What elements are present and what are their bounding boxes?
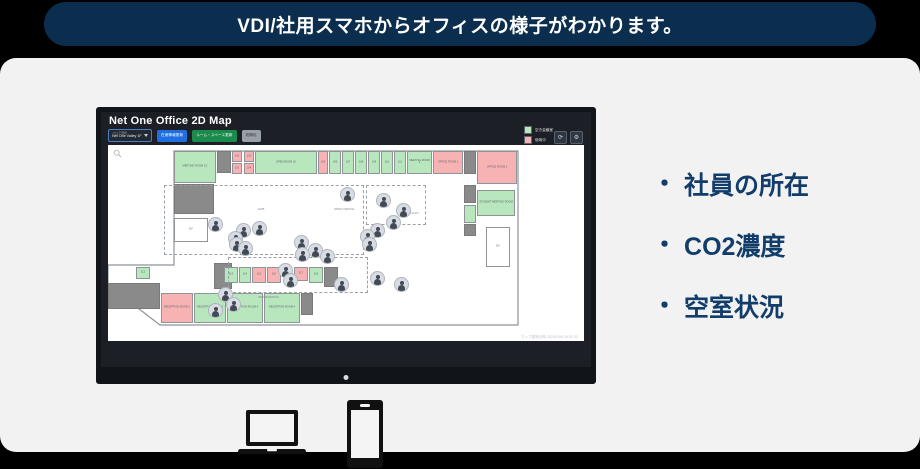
refresh-icon[interactable]: ⟳ <box>554 131 567 144</box>
zone-boundary <box>164 185 364 255</box>
person-marker-icon[interactable] <box>386 215 401 230</box>
room-cell[interactable] <box>464 151 476 174</box>
room-label: EV <box>487 246 509 249</box>
room-cell[interactable]: 109 <box>368 151 380 174</box>
map-timestamp: マップ更新日時 2024/10/9 15:52:32 <box>521 335 578 340</box>
room-label: 101 <box>233 155 241 158</box>
room-cell[interactable]: 108 <box>355 151 367 174</box>
person-marker-icon[interactable] <box>283 273 298 288</box>
banner-title: VDI/社用スマホからオフィスの様子がわかります。 <box>237 11 683 38</box>
room-label: RECEPTION ROOM 4 <box>265 307 299 310</box>
room-label: 104 <box>245 167 253 170</box>
bullet-marker-icon: ・ <box>652 294 677 319</box>
room-cell[interactable]: MEETING ROOM 1/2 <box>174 151 216 183</box>
room-cell[interactable]: EV <box>486 227 510 267</box>
person-marker-icon[interactable] <box>362 237 377 252</box>
room-label: RECEPTION ROOM 1 <box>162 307 192 310</box>
legend-item-busy: 使用中 <box>524 136 553 144</box>
room-cell[interactable]: 101 <box>232 151 242 162</box>
title-banner: VDI/社用スマホからオフィスの様子がわかります。 <box>44 2 876 46</box>
room-label: 107 <box>343 161 353 164</box>
smartphone-icon <box>346 399 384 469</box>
room-label: MEETING ROOM 1/2 <box>175 166 215 169</box>
person-marker-icon[interactable] <box>376 193 391 208</box>
monitor-screen: Net One Office 2D Map フロア選択 Net One Vall… <box>101 112 591 367</box>
map-tool-buttons: ⟳ ⚙ <box>554 131 583 144</box>
reset-button[interactable]: 初期化 <box>242 130 261 142</box>
room-cell[interactable]: RECEPTION ROOM 1 <box>161 293 193 323</box>
person-marker-icon[interactable] <box>370 271 385 286</box>
map-legend: 空き会議室 使用中 <box>524 126 553 144</box>
room-cell[interactable]: 112 <box>136 267 150 279</box>
feature-list: ・ 社員の所在 ・ CO2濃度 ・ 空室状況 <box>652 166 809 324</box>
zone-label: OPEN OFFICE <box>334 207 354 211</box>
monitor-frame: Net One Office 2D Map フロア選択 Net One Vall… <box>96 107 596 384</box>
room-cell[interactable] <box>217 151 231 173</box>
zone-label: HUB <box>258 207 264 211</box>
person-marker-icon[interactable] <box>208 217 223 232</box>
refresh-presence-button[interactable]: 在席情報更新 <box>157 130 187 142</box>
room-label: 110 <box>382 161 392 164</box>
room-label: 112 <box>137 272 149 275</box>
list-item: ・ 空室状況 <box>652 288 809 324</box>
room-cell[interactable]: 111 <box>394 151 406 174</box>
content-panel: Net One Office 2D Map フロア選択 Net One Vall… <box>0 58 920 452</box>
person-marker-icon[interactable] <box>394 277 409 292</box>
room-label: OFFICE ROOM 2 <box>478 166 516 169</box>
room-label: MEETING ROOM 2 <box>408 160 431 166</box>
room-cell[interactable] <box>464 205 476 223</box>
person-marker-icon[interactable] <box>340 187 355 202</box>
bullet-label: 空室状況 <box>684 288 784 324</box>
room-cell[interactable]: 102 <box>232 163 242 174</box>
person-marker-icon[interactable] <box>295 247 310 262</box>
room-label: 105 <box>319 161 327 164</box>
legend-item-free: 空き会議室 <box>524 126 553 134</box>
room-label: 103 <box>245 155 253 158</box>
room-cell[interactable]: 103 <box>244 151 254 162</box>
room-label: STUDENT MEETING ROOM <box>478 202 514 205</box>
bullet-label: CO2濃度 <box>684 227 785 263</box>
floor-select[interactable]: フロア選択 Net One Valley 1F <box>108 129 152 142</box>
zone-label: INFORMATION <box>258 295 279 299</box>
list-item: ・ 社員の所在 <box>652 166 809 202</box>
laptop-icon <box>238 408 306 460</box>
room-cell[interactable]: OFFICE ROOM 2 <box>477 151 517 184</box>
room-label: OFFICE ROOM 1 <box>434 161 462 164</box>
room-label: 108 <box>356 161 366 164</box>
legend-label-free: 空き会議室 <box>535 128 553 133</box>
chevron-down-icon <box>144 134 148 137</box>
person-marker-icon[interactable] <box>334 277 349 292</box>
app-toolbar: フロア選択 Net One Valley 1F 在席情報更新 ルーム・スペース更… <box>108 129 261 142</box>
webcam-icon <box>344 375 349 380</box>
refresh-rooms-button[interactable]: ルーム・スペース更新 <box>192 130 236 142</box>
room-cell[interactable]: 104 <box>244 163 254 174</box>
room-cell[interactable]: OPEN ROOM 1A <box>255 151 317 174</box>
legend-swatch-busy-icon <box>524 136 532 144</box>
bullet-label: 社員の所在 <box>684 166 809 202</box>
person-marker-icon[interactable] <box>320 249 335 264</box>
person-marker-icon[interactable] <box>238 241 253 256</box>
room-cell[interactable]: 107 <box>342 151 354 174</box>
person-marker-icon[interactable] <box>226 297 241 312</box>
person-marker-icon[interactable] <box>208 303 223 318</box>
bullet-marker-icon: ・ <box>652 172 677 197</box>
room-cell[interactable]: MEETING ROOM 2 <box>407 151 432 174</box>
room-cell[interactable]: STUDENT MEETING ROOM <box>477 190 515 216</box>
app-title: Net One Office 2D Map <box>109 115 232 127</box>
room-cell[interactable]: 106 <box>329 151 341 174</box>
list-item: ・ CO2濃度 <box>652 227 809 263</box>
legend-label-busy: 使用中 <box>535 138 546 143</box>
room-cell[interactable]: 110 <box>381 151 393 174</box>
person-marker-icon[interactable] <box>252 221 267 236</box>
room-cell[interactable] <box>108 283 160 309</box>
room-label: 111 <box>395 161 405 164</box>
room-cell[interactable]: 105 <box>318 151 328 174</box>
room-cell[interactable] <box>464 185 476 203</box>
room-label: OPEN ROOM 1A <box>256 161 316 164</box>
bullet-marker-icon: ・ <box>652 233 677 258</box>
slide-root: VDI/社用スマホからオフィスの様子がわかります。 Net One Office… <box>0 0 920 452</box>
legend-swatch-free-icon <box>524 126 532 134</box>
room-cell[interactable] <box>464 224 476 236</box>
room-label: 102 <box>233 167 241 170</box>
settings-icon[interactable]: ⚙ <box>570 131 583 144</box>
room-cell[interactable]: OFFICE ROOM 1 <box>433 151 463 174</box>
room-label: 106 <box>330 161 340 164</box>
office-floor-map[interactable]: MEETING ROOM 1/2101102103104OPEN ROOM 1A… <box>108 145 584 341</box>
room-cell[interactable] <box>301 293 313 315</box>
room-label: 109 <box>369 161 379 164</box>
